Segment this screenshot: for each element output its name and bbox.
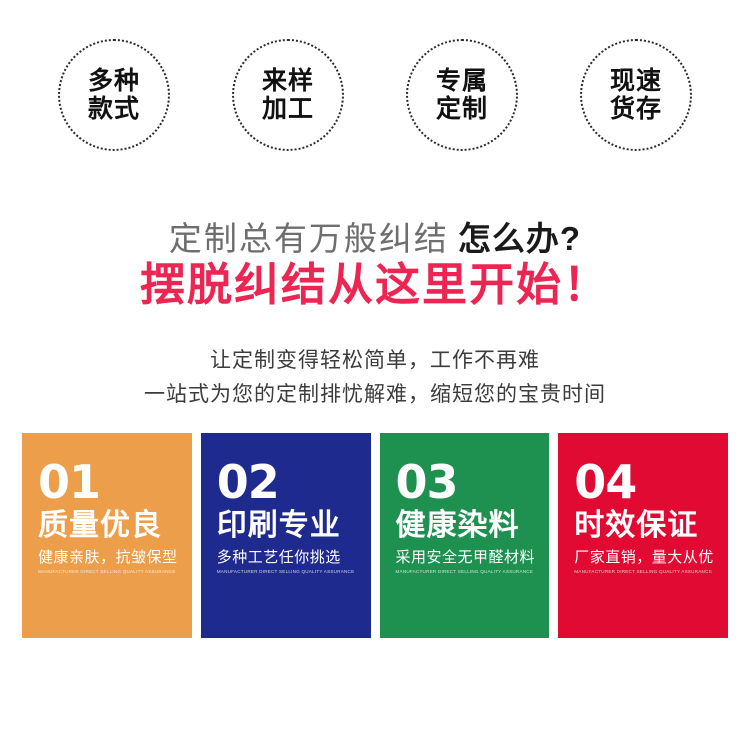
feature-cards-row: 01 质量优良 健康亲肤，抗皱保型 MANUFACTURER DIRECT SE… <box>22 433 728 638</box>
badge-line-1: 多种 <box>88 67 140 96</box>
card-title: 质量优良 <box>38 509 192 543</box>
headline-block: 定制总有万般纠结怎么办? 摆脱纠结从这里开始！ <box>0 222 750 309</box>
feature-card-02[interactable]: 02 印刷专业 多种工艺任你挑选 MANUFACTURER DIRECT SEL… <box>201 433 371 638</box>
badge-exclusive-custom[interactable]: 专属 定制 <box>406 39 518 151</box>
feature-card-01[interactable]: 01 质量优良 健康亲肤，抗皱保型 MANUFACTURER DIRECT SE… <box>22 433 192 638</box>
card-number: 04 <box>574 461 728 505</box>
subcopy-line-1: 让定制变得轻松简单，工作不再难 <box>0 344 750 378</box>
headline-emphasis-text: 摆脱纠结从这里开始！ <box>0 261 750 309</box>
subcopy-line-2: 一站式为您的定制排忧解难，缩短您的宝贵时间 <box>0 378 750 412</box>
badge-line-2: 加工 <box>262 95 314 124</box>
feature-badge-row: 多种 款式 来样 加工 专属 定制 现速 货存 <box>0 35 750 155</box>
card-title: 时效保证 <box>574 509 728 543</box>
headline-strong-text: 怎么办? <box>458 220 581 257</box>
feature-card-04[interactable]: 04 时效保证 厂家直销，量大从优 MANUFACTURER DIRECT SE… <box>558 433 728 638</box>
headline-primary-row: 定制总有万般纠结怎么办? <box>0 222 750 255</box>
badge-line-2: 货存 <box>610 95 662 124</box>
card-subtitle: 多种工艺任你挑选 <box>217 549 371 567</box>
card-title: 印刷专业 <box>217 509 371 543</box>
badge-multiple-styles[interactable]: 多种 款式 <box>58 39 170 151</box>
headline-light-text: 定制总有万般纠结 <box>169 220 449 257</box>
badge-line-2: 款式 <box>88 95 140 124</box>
badge-fast-stock[interactable]: 现速 货存 <box>580 39 692 151</box>
card-subtitle: 厂家直销，量大从优 <box>574 549 728 567</box>
badge-line-1: 专属 <box>436 67 488 96</box>
subcopy-block: 让定制变得轻松简单，工作不再难 一站式为您的定制排忧解难，缩短您的宝贵时间 <box>0 344 750 412</box>
card-microtext: MANUFACTURER DIRECT SELLING QUALITY ASSU… <box>38 569 192 575</box>
badge-line-1: 来样 <box>262 67 314 96</box>
card-title: 健康染料 <box>396 509 550 543</box>
card-microtext: MANUFACTURER DIRECT SELLING QUALITY ASSU… <box>217 569 371 575</box>
card-microtext: MANUFACTURER DIRECT SELLING QUALITY ASSU… <box>574 569 728 575</box>
badge-line-2: 定制 <box>436 95 488 124</box>
card-number: 01 <box>38 461 192 505</box>
card-subtitle: 健康亲肤，抗皱保型 <box>38 549 192 567</box>
feature-card-03[interactable]: 03 健康染料 采用安全无甲醛材料 MANUFACTURER DIRECT SE… <box>380 433 550 638</box>
badge-sample-processing[interactable]: 来样 加工 <box>232 39 344 151</box>
card-number: 02 <box>217 461 371 505</box>
card-subtitle: 采用安全无甲醛材料 <box>396 549 550 567</box>
card-number: 03 <box>396 461 550 505</box>
card-microtext: MANUFACTURER DIRECT SELLING QUALITY ASSU… <box>396 569 550 575</box>
badge-line-1: 现速 <box>610 67 662 96</box>
